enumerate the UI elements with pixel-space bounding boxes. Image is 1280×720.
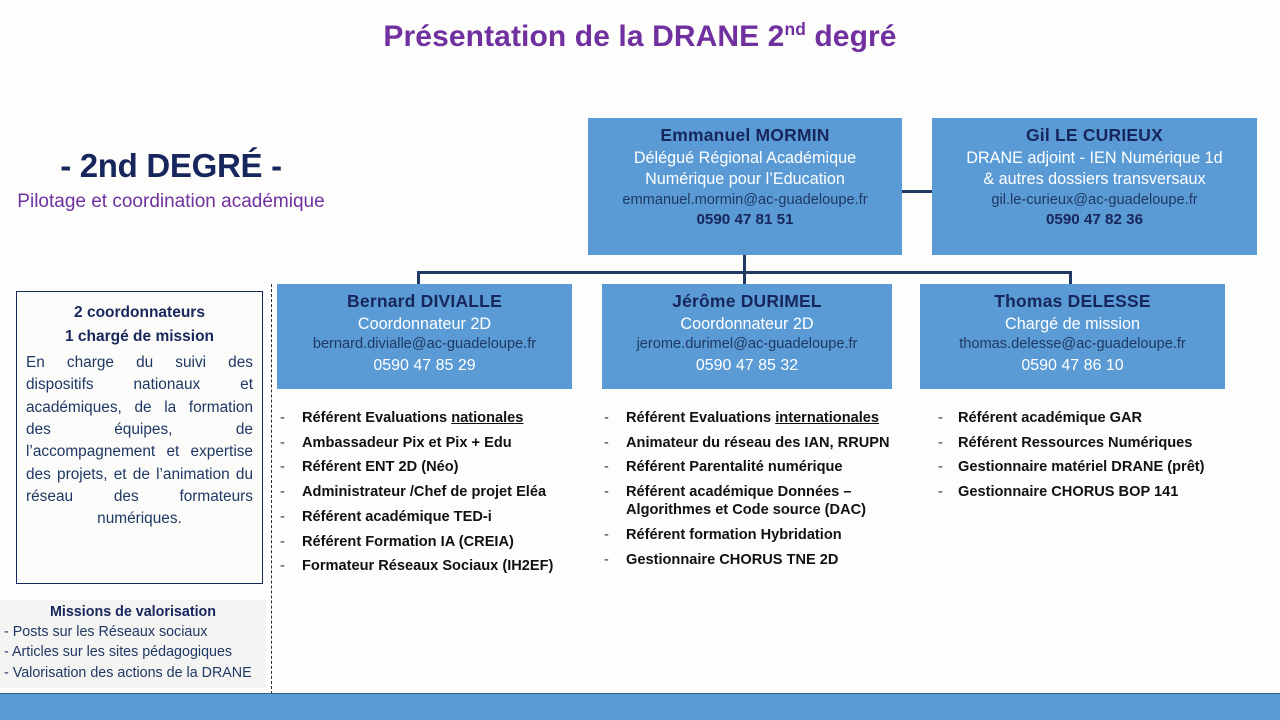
duty-text: Référent Evaluations nationales [302,409,600,427]
duty-row: -Référent Ressources Numériques [938,434,1258,452]
duty-text: Administrateur /Chef de projet Eléa [302,483,600,501]
duty-dash-marker: - [938,434,958,452]
person-card-lecurieux[interactable]: Gil LE CURIEUX DRANE adjoint - IEN Numér… [932,118,1257,255]
bottom-blue-band [0,693,1280,720]
coordinators-summary-box: 2 coordonnateurs 1 chargé de mission En … [16,291,263,584]
duty-dash-marker: - [604,409,626,427]
duty-text: Animateur du réseau des IAN, RRUPN [626,434,939,452]
duty-list-durimel: -Référent Evaluations internationales-An… [604,409,939,576]
duty-dash-marker: - [938,458,958,476]
duty-row: -Référent académique Données – Algorithm… [604,483,939,519]
person-card-divialle[interactable]: Bernard DIVIALLE Coordonnateur 2D bernar… [277,284,572,389]
person-name: Bernard DIVIALLE [277,290,572,314]
person-email[interactable]: bernard.divialle@ac-guadeloupe.fr [277,335,572,355]
person-role-line: Coordonnateur 2D [602,314,892,336]
person-card-delesse[interactable]: Thomas DELESSE Chargé de mission thomas.… [920,284,1225,389]
duty-text: Référent Parentalité numérique [626,458,939,476]
valorisation-item: - Valorisation des actions de la DRANE [4,663,262,683]
person-phone: 0590 47 85 32 [602,355,892,377]
duty-text: Formateur Réseaux Sociaux (IH2EF) [302,557,600,575]
person-phone: 0590 47 85 29 [277,355,572,377]
duty-list-delesse: -Référent académique GAR-Référent Ressou… [938,409,1258,508]
person-phone: 0590 47 82 36 [932,210,1257,231]
valorisation-item: - Posts sur les Réseaux sociaux [4,622,262,642]
person-name: Gil LE CURIEUX [932,124,1257,148]
person-role-line: Délégué Régional Académique [588,148,902,170]
duty-dash-marker: - [604,458,626,476]
coordinators-count-line-2: 1 chargé de mission [26,325,253,349]
duty-dash-marker: - [280,483,302,501]
duty-row: -Ambassadeur Pix et Pix + Edu [280,434,600,452]
duty-dash-marker: - [280,458,302,476]
person-email[interactable]: jerome.durimel@ac-guadeloupe.fr [602,335,892,355]
duty-text: Référent Ressources Numériques [958,434,1258,452]
person-email[interactable]: emmanuel.mormin@ac-guadeloupe.fr [588,191,902,211]
degree-heading: - 2nd DEGRÉ - [6,148,336,184]
duty-text: Référent Evaluations internationales [626,409,939,427]
duty-text: Référent académique GAR [958,409,1258,427]
person-name: Emmanuel MORMIN [588,124,902,148]
coordinators-count-line-1: 2 coordonnateurs [26,301,253,325]
duty-dash-marker: - [604,551,626,569]
duty-row: -Administrateur /Chef de projet Eléa [280,483,600,501]
valorisation-missions-box: Missions de valorisation - Posts sur les… [0,600,266,688]
coordinators-description: En charge du suivi des dispositifs natio… [26,352,253,531]
duty-text: Référent ENT 2D (Néo) [302,458,600,476]
person-role-line: Coordonnateur 2D [277,314,572,336]
duty-row: -Gestionnaire CHORUS BOP 141 [938,483,1258,501]
duty-row: -Gestionnaire CHORUS TNE 2D [604,551,939,569]
duty-text: Ambassadeur Pix et Pix + Edu [302,434,600,452]
page-title-superscript: nd [784,19,805,39]
duty-row: -Référent Evaluations internationales [604,409,939,427]
connector-drop-divialle [417,271,420,285]
duty-row: -Référent ENT 2D (Néo) [280,458,600,476]
valorisation-title: Missions de valorisation [4,604,262,620]
person-phone: 0590 47 81 51 [588,210,902,231]
duty-list-divialle: -Référent Evaluations nationales-Ambassa… [280,409,600,582]
degree-subheading: Pilotage et coordination académique [6,190,336,214]
duty-text: Gestionnaire CHORUS BOP 141 [958,483,1258,501]
person-name: Thomas DELESSE [920,290,1225,314]
slide-canvas: Présentation de la DRANE 2nd degré - 2nd… [0,0,1280,720]
duty-dash-marker: - [280,409,302,427]
person-phone: 0590 47 86 10 [920,355,1225,377]
duty-dash-marker: - [604,434,626,452]
duty-dash-marker: - [938,409,958,427]
duty-dash-marker: - [938,483,958,501]
duty-text: Gestionnaire CHORUS TNE 2D [626,551,939,569]
person-card-mormin[interactable]: Emmanuel MORMIN Délégué Régional Académi… [588,118,902,255]
duty-row: -Gestionnaire matériel DRANE (prêt) [938,458,1258,476]
valorisation-item: - Articles sur les sites pédagogiques [4,642,262,662]
duty-row: -Référent Parentalité numérique [604,458,939,476]
person-email[interactable]: gil.le-curieux@ac-guadeloupe.fr [932,191,1257,211]
duty-row: -Formateur Réseaux Sociaux (IH2EF) [280,557,600,575]
duty-text: Gestionnaire matériel DRANE (prêt) [958,458,1258,476]
duty-row: -Référent Formation IA (CREIA) [280,533,600,551]
person-card-durimel[interactable]: Jérôme DURIMEL Coordonnateur 2D jerome.d… [602,284,892,389]
duty-dash-marker: - [280,508,302,526]
page-title-after: degré [806,20,897,53]
duty-text: Référent formation Hybridation [626,526,939,544]
person-role-line: Chargé de mission [920,314,1225,336]
person-role-line: Numérique pour l’Education [588,169,902,191]
dashed-vertical-separator [271,284,272,694]
duty-row: -Référent Evaluations nationales [280,409,600,427]
page-title: Présentation de la DRANE 2nd degré [0,20,1280,54]
person-email[interactable]: thomas.delesse@ac-guadeloupe.fr [920,335,1225,355]
duty-row: -Référent académique TED-i [280,508,600,526]
left-heading-block: - 2nd DEGRÉ - Pilotage et coordination a… [6,148,336,214]
connector-drop-delesse [1069,271,1072,285]
duty-text: Référent académique TED-i [302,508,600,526]
duty-dash-marker: - [604,526,626,544]
duty-dash-marker: - [604,483,626,501]
duty-dash-marker: - [280,557,302,575]
person-name: Jérôme DURIMEL [602,290,892,314]
duty-dash-marker: - [280,434,302,452]
duty-row: -Référent formation Hybridation [604,526,939,544]
connector-mormin-to-lecurieux [899,190,935,193]
person-role-line: & autres dossiers transversaux [932,169,1257,191]
person-role-line: DRANE adjoint - IEN Numérique 1d [932,148,1257,170]
duty-text: Référent académique Données – Algorithme… [626,483,939,519]
duty-row: -Référent académique GAR [938,409,1258,427]
connector-drop-durimel [743,271,746,285]
duty-dash-marker: - [280,533,302,551]
duty-row: -Animateur du réseau des IAN, RRUPN [604,434,939,452]
duty-text: Référent Formation IA (CREIA) [302,533,600,551]
page-title-before: Présentation de la DRANE 2 [383,20,784,53]
